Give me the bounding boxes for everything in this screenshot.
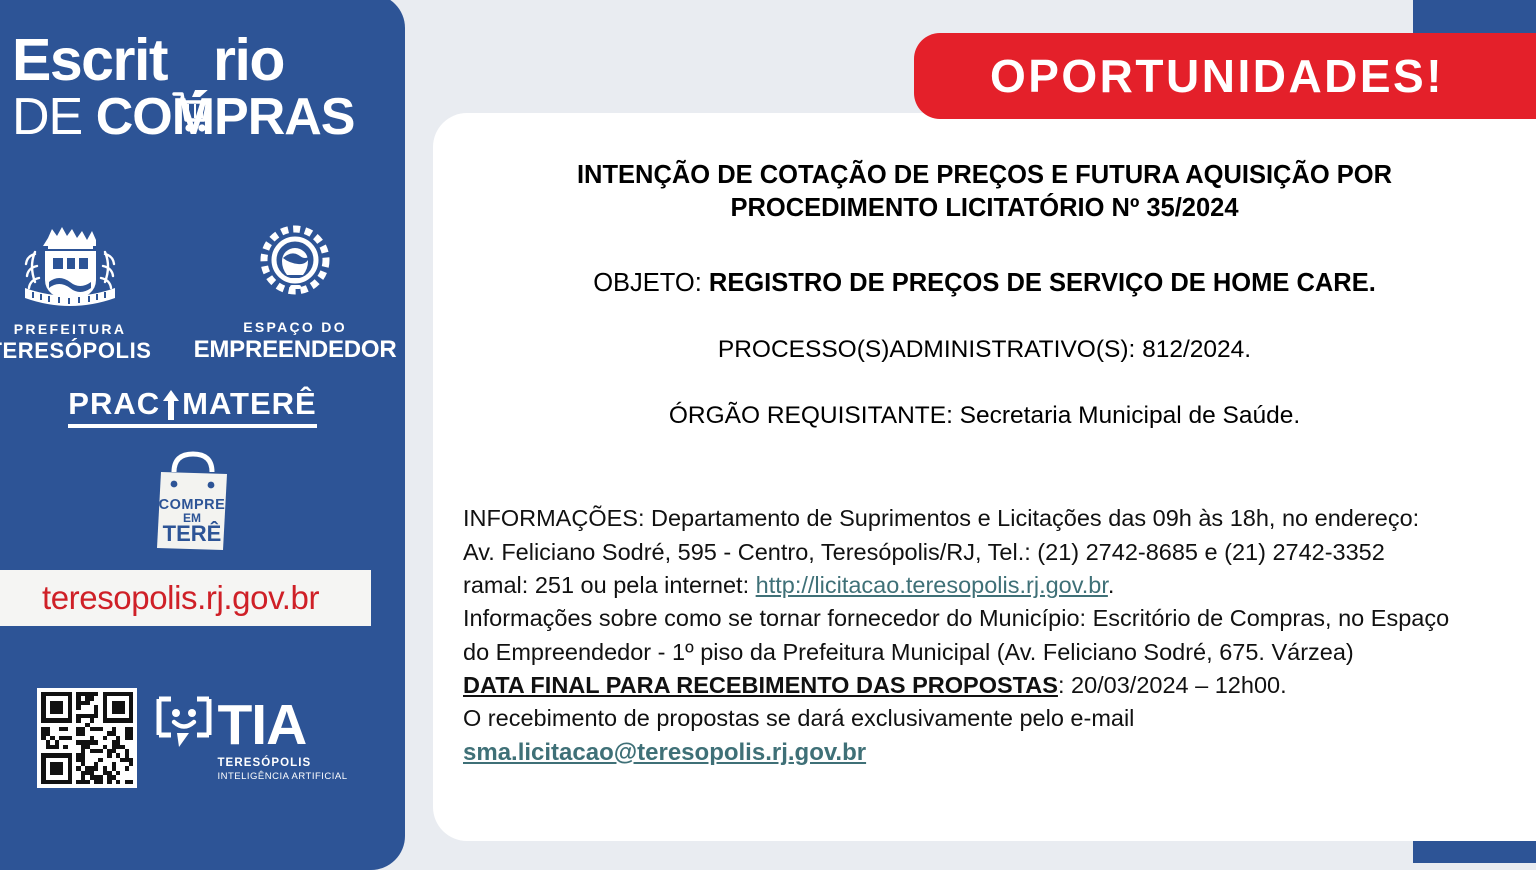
- pracima-post: MATERÊ: [182, 386, 317, 421]
- objeto-label: OBJETO:: [593, 269, 709, 297]
- logo-caption-big: TERESÓPOLIS: [0, 339, 152, 362]
- partner-logos-row: PREFEITURA TERESÓPOLIS: [0, 222, 395, 362]
- brand-de: DE: [12, 88, 96, 146]
- tia-block: TIA TERESÓPOLIS INTELIGÊNCIA ARTIFICIAL: [0, 688, 395, 788]
- info-line-2: Av. Feliciano Sodré, 595 - Centro, Teres…: [463, 536, 1512, 569]
- proposal-email-link[interactable]: sma.licitacao@teresopolis.rj.gov.br: [463, 739, 866, 766]
- logo-caption-small: PREFEITURA: [0, 322, 152, 337]
- brand-text-pre: Escrit: [12, 27, 167, 93]
- processo-line: PROCESSO(S)ADMINISTRATIVO(S): 812/2024.: [473, 336, 1496, 364]
- orgao-line: ÓRGÃO REQUISITANTE: Secretaria Municipal…: [473, 402, 1496, 430]
- pracimatere-logo: PRACMATERÊ: [0, 386, 395, 428]
- brand-compras: COMPRAS: [96, 88, 355, 146]
- brand-sidebar: Escrit rio DE COMPRAS: [0, 0, 405, 870]
- prefeitura-teresopolis-logo: PREFEITURA TERESÓPOLIS: [0, 224, 152, 362]
- logo-caption-big: EMPREENDEDOR: [194, 337, 397, 362]
- qr-code-icon[interactable]: [37, 688, 137, 788]
- deadline-value: : 20/03/2024 – 12h00.: [1058, 672, 1287, 698]
- tia-logo: TIA TERESÓPOLIS INTELIGÊNCIA ARTIFICIAL: [155, 695, 347, 781]
- licitacao-website-link[interactable]: http://licitacao.teresopolis.rj.gov.br: [756, 572, 1108, 598]
- objeto-value: REGISTRO DE PREÇOS DE SERVIÇO DE HOME CA…: [709, 269, 1376, 297]
- poster-page: Escrit rio DE COMPRAS: [0, 0, 1536, 863]
- tia-wordmark: TIA: [217, 697, 306, 754]
- logo-caption-small: ESPAÇO DO: [194, 320, 397, 335]
- bag-line-3: TERÊ: [162, 521, 221, 546]
- deadline-line: DATA FINAL PARA RECEBIMENTO DAS PROPOSTA…: [463, 669, 1512, 702]
- info-line-3: ramal: 251 ou pela internet: http://lici…: [463, 569, 1512, 602]
- announcement-title: INTENÇÃO DE COTAÇÃO DE PREÇOS E FUTURA A…: [493, 159, 1476, 225]
- chat-face-icon: [155, 695, 213, 755]
- pracima-pre: PRAC: [68, 386, 160, 421]
- tia-subtitle-2: INTELIGÊNCIA ARTIFICIAL: [217, 772, 347, 782]
- arrow-up-icon: [160, 386, 182, 422]
- info-line-1: INFORMAÇÕES: Departamento de Suprimentos…: [463, 502, 1512, 535]
- announcement-card: INTENÇÃO DE COTAÇÃO DE PREÇOS E FUTURA A…: [433, 113, 1536, 841]
- escritorio-de-compras-logo: Escrit rio DE COMPRAS: [12, 32, 382, 143]
- objeto-line: OBJETO: REGISTRO DE PREÇOS DE SERVIÇO DE…: [473, 269, 1496, 298]
- information-block: INFORMAÇÕES: Departamento de Suprimentos…: [449, 502, 1536, 770]
- tia-subtitle-1: TERESÓPOLIS: [217, 758, 347, 770]
- coat-of-arms-icon: [0, 224, 152, 316]
- compre-em-tere-logo: COMPRE EM TERÊ: [0, 438, 395, 556]
- info-line-3-post: .: [1108, 572, 1115, 598]
- lightbulb-gear-icon: [194, 222, 397, 314]
- brand-text-post: rio: [213, 27, 284, 93]
- website-url: teresopolis.rj.gov.br: [42, 579, 319, 617]
- espaco-do-empreendedor-logo: ESPAÇO DO EMPREENDEDOR: [194, 222, 397, 362]
- oportunidades-banner: OPORTUNIDADES!: [914, 33, 1536, 119]
- banner-label: OPORTUNIDADES!: [990, 49, 1444, 103]
- info-line-3-pre: ramal: 251 ou pela internet:: [463, 572, 756, 598]
- info-line-5: do Empreendedor - 1º piso da Prefeitura …: [463, 636, 1512, 669]
- info-line-4: Informações sobre como se tornar fornece…: [463, 602, 1512, 635]
- qr-code-grid: [41, 692, 133, 784]
- brand-line-1: Escrit rio: [12, 32, 382, 90]
- email-line: sma.licitacao@teresopolis.rj.gov.br: [463, 736, 1512, 770]
- email-intro-line: O recebimento de propostas se dará exclu…: [463, 702, 1512, 735]
- website-badge[interactable]: teresopolis.rj.gov.br: [0, 570, 371, 626]
- deadline-label: DATA FINAL PARA RECEBIMENTO DAS PROPOSTA…: [463, 672, 1058, 698]
